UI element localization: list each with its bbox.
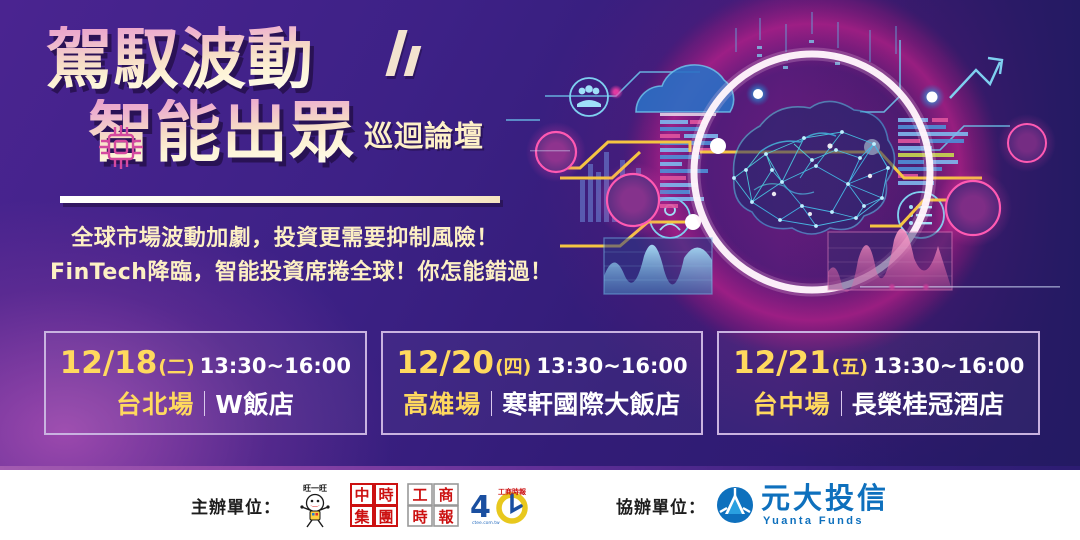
cpu-chip-icon: [96, 122, 146, 172]
session-weekday: (四): [495, 352, 531, 379]
organizer-logos: 旺一旺: [289, 481, 542, 529]
want-want-mascot-logo: 旺一旺: [289, 481, 341, 529]
session-date: 12/20: [396, 345, 494, 381]
session-card-kaohsiung[interactable]: 12/20 (四) 13:30~16:00 高雄場 寒軒國際大飯店: [381, 331, 704, 435]
session-date: 12/18: [60, 345, 158, 381]
session-cards: 12/18 (二) 13:30~16:00 台北場 W飯店 12/20 (四) …: [44, 331, 1040, 435]
organizer-label: 主辦單位：: [191, 493, 281, 518]
subtitle-line-1: 全球市場波動加劇，投資更需要抑制風險！: [50, 222, 520, 256]
divider: [491, 391, 492, 416]
title-underline: [60, 196, 500, 203]
svg-text:報: 報: [438, 508, 454, 526]
coorganizer-group: 協辦單位： 元大投信 Yuanta Funds: [616, 484, 889, 527]
session-venue-row: 高雄場 寒軒國際大飯店: [403, 385, 681, 421]
session-time: 13:30~16:00: [536, 354, 687, 378]
svg-text:工商時報: 工商時報: [498, 487, 527, 496]
svg-text:4: 4: [470, 490, 491, 525]
session-card-taipei[interactable]: 12/18 (二) 13:30~16:00 台北場 W飯店: [44, 331, 367, 435]
session-datetime-row: 12/21 (五) 13:30~16:00: [733, 345, 1024, 381]
svg-text:旺一旺: 旺一旺: [303, 484, 327, 493]
commercial-times-logo: 工 商 時 報: [407, 483, 459, 527]
session-datetime-row: 12/20 (四) 13:30~16:00: [396, 345, 687, 381]
svg-text:中: 中: [354, 486, 369, 504]
svg-text:團: 團: [378, 508, 393, 526]
organizer-group: 主辦單位： 旺一旺: [191, 481, 542, 529]
commercial-times-40th-logo: 4 工商時報 ctee.com.tw: [468, 484, 542, 526]
promo-banner: 駕馭波動 智能出眾 巡迴論壇 全球市場波動加劇，投資更需要抑制風險！ FinTe…: [0, 0, 1080, 540]
session-city: 高雄場: [403, 385, 481, 421]
yuanta-name-cn: 元大投信: [761, 484, 889, 513]
session-venue: 長榮桂冠酒店: [852, 385, 1005, 421]
yuanta-text-block: 元大投信 Yuanta Funds: [761, 484, 889, 527]
session-venue-row: 台北場 W飯店: [116, 385, 294, 421]
divider: [841, 391, 842, 416]
session-weekday: (五): [832, 352, 868, 379]
session-time: 13:30~16:00: [873, 354, 1024, 378]
session-city: 台中場: [753, 385, 831, 421]
forum-tag: 巡迴論壇: [364, 113, 484, 155]
yuanta-funds-logo: 元大投信 Yuanta Funds: [716, 484, 889, 527]
svg-text:時: 時: [412, 508, 427, 526]
subtitle-line-2: FinTech降臨，智能投資席捲全球！你怎能錯過！: [50, 256, 520, 290]
session-time: 13:30~16:00: [200, 354, 351, 378]
session-datetime-row: 12/18 (二) 13:30~16:00: [60, 345, 351, 381]
svg-text:時: 時: [378, 486, 393, 504]
session-venue: W飯店: [215, 385, 294, 421]
coorganizer-label: 協辦單位：: [616, 493, 706, 518]
svg-text:工: 工: [412, 486, 427, 504]
title-line-1: 駕馭波動: [46, 26, 314, 93]
subtitle-block: 全球市場波動加劇，投資更需要抑制風險！ FinTech降臨，智能投資席捲全球！你…: [50, 222, 520, 290]
divider: [204, 391, 205, 416]
svg-text:ctee.com.tw: ctee.com.tw: [472, 520, 500, 526]
footer-content: 主辦單位： 旺一旺: [0, 470, 1080, 540]
svg-text:商: 商: [438, 486, 453, 504]
session-weekday: (二): [158, 352, 194, 379]
yuanta-name-en: Yuanta Funds: [763, 516, 889, 527]
session-card-taichung[interactable]: 12/21 (五) 13:30~16:00 台中場 長榮桂冠酒店: [717, 331, 1040, 435]
session-city: 台北場: [116, 385, 194, 421]
china-times-group-logo: 中 時 集 團: [350, 483, 398, 527]
session-venue: 寒軒國際大飯店: [502, 385, 681, 421]
session-date: 12/21: [733, 345, 831, 381]
session-venue-row: 台中場 長榮桂冠酒店: [753, 385, 1005, 421]
svg-text:集: 集: [353, 508, 370, 526]
yuanta-mark-icon: [716, 486, 754, 524]
